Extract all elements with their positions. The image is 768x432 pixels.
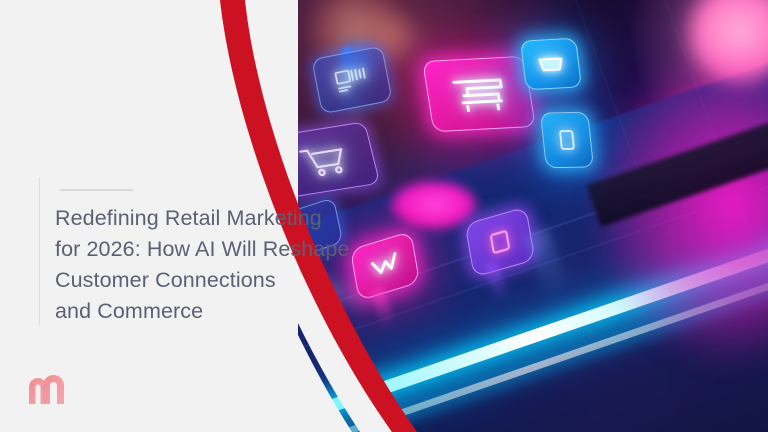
neon-card-tag-cyan-lower <box>540 112 594 169</box>
barcode-icon <box>333 64 371 96</box>
shopping-bag-icon <box>535 52 568 75</box>
document-icon <box>485 226 515 259</box>
neon-blob-pink <box>390 180 478 230</box>
check-icon <box>367 249 404 283</box>
vertical-accent-rule <box>39 177 40 325</box>
brand-logo-m <box>26 370 72 406</box>
neon-card-bag-cyan <box>520 38 582 91</box>
slide-canvas: Redefining Retail Marketing for 2026: Ho… <box>0 0 768 432</box>
neon-card-shopping-cart-magenta <box>422 56 536 132</box>
left-content-panel: Redefining Retail Marketing for 2026: Ho… <box>0 0 330 432</box>
tag-icon <box>555 127 580 153</box>
eyebrow-rule <box>60 189 133 191</box>
logo-right-arch <box>43 375 64 404</box>
hero-neon-artwork <box>298 0 768 432</box>
page-title: Redefining Retail Marketing for 2026: Ho… <box>55 203 355 327</box>
shopping-cart-icon <box>446 71 511 118</box>
